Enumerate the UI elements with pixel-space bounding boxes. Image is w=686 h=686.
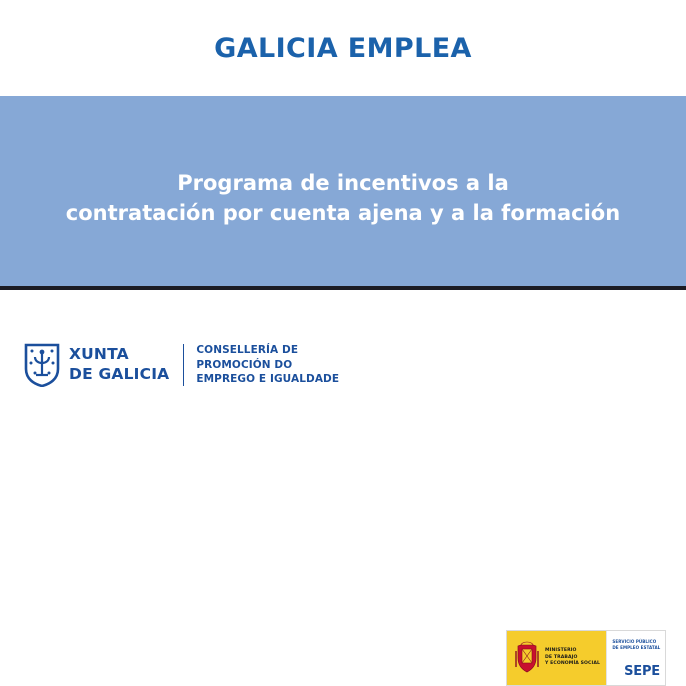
xunta-wordmark: XUNTA DE GALICIA bbox=[69, 345, 169, 385]
subtitle-block: Programa de incentivos a la contratación… bbox=[0, 153, 686, 229]
xunta-line-2: DE GALICIA bbox=[69, 365, 169, 385]
ministerio-line-3: Y ECONOMÍA SOCIAL bbox=[545, 661, 600, 668]
conselleria-line-1: CONSELLERÍA DE bbox=[196, 343, 339, 358]
government-logos-block: MINISTERIO DE TRABAJO Y ECONOMÍA SOCIAL … bbox=[506, 630, 666, 686]
logo-divider bbox=[183, 344, 184, 386]
sepe-wordmark: SEPE bbox=[624, 664, 660, 679]
subtitle-line-1: Programa de incentivos a la bbox=[0, 169, 686, 199]
subtitle-line-2: contratación por cuenta ajena y a la for… bbox=[0, 199, 686, 229]
spain-coat-of-arms-icon bbox=[514, 641, 540, 675]
sepe-logo-block: SERVICIO PÚBLICO DE EMPLEO ESTATAL SEPE bbox=[606, 631, 665, 685]
title-zone: GALICIA EMPLEA bbox=[0, 0, 686, 96]
poster-page: GALICIA EMPLEA Programa de incentivos a … bbox=[0, 0, 686, 410]
xunta-logo-block: XUNTA DE GALICIA CONSELLERÍA DE PROMOCIÓ… bbox=[24, 342, 339, 388]
conselleria-text: CONSELLERÍA DE PROMOCIÓN DO EMPREGO E IG… bbox=[196, 343, 339, 388]
page-title: GALICIA EMPLEA bbox=[214, 33, 472, 64]
ministerio-text: MINISTERIO DE TRABAJO Y ECONOMÍA SOCIAL bbox=[545, 648, 600, 668]
ministerio-line-1: MINISTERIO bbox=[545, 648, 600, 655]
ministerio-logo: MINISTERIO DE TRABAJO Y ECONOMÍA SOCIAL bbox=[507, 631, 606, 685]
footer: XUNTA DE GALICIA CONSELLERÍA DE PROMOCIÓ… bbox=[0, 290, 686, 410]
xunta-line-1: XUNTA bbox=[69, 345, 169, 365]
sepe-line-2: DE EMPLEO ESTATAL bbox=[612, 645, 660, 651]
ministerio-line-2: DE TRABAJO bbox=[545, 655, 600, 662]
xunta-shield-icon bbox=[24, 343, 60, 387]
conselleria-line-3: EMPREGO E IGUALDADE bbox=[196, 372, 339, 387]
subtitle-band: Programa de incentivos a la contratación… bbox=[0, 96, 686, 286]
sepe-subtitle: SERVICIO PÚBLICO DE EMPLEO ESTATAL bbox=[612, 639, 660, 651]
conselleria-line-2: PROMOCIÓN DO bbox=[196, 358, 339, 373]
